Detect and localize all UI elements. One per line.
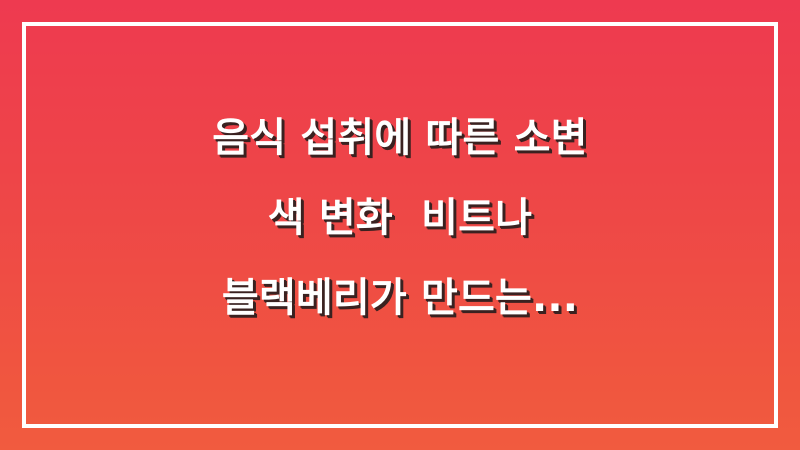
title-line-2: 색 변화 비트나 bbox=[0, 178, 800, 258]
thumbnail-card: 음식 섭취에 따른 소변 색 변화 비트나 블랙베리가 만드는... bbox=[0, 0, 800, 450]
title-line-3: 블랙베리가 만드는... bbox=[0, 258, 800, 338]
title-block: 음식 섭취에 따른 소변 색 변화 비트나 블랙베리가 만드는... bbox=[0, 0, 800, 450]
title-line-1: 음식 섭취에 따른 소변 bbox=[0, 98, 800, 178]
